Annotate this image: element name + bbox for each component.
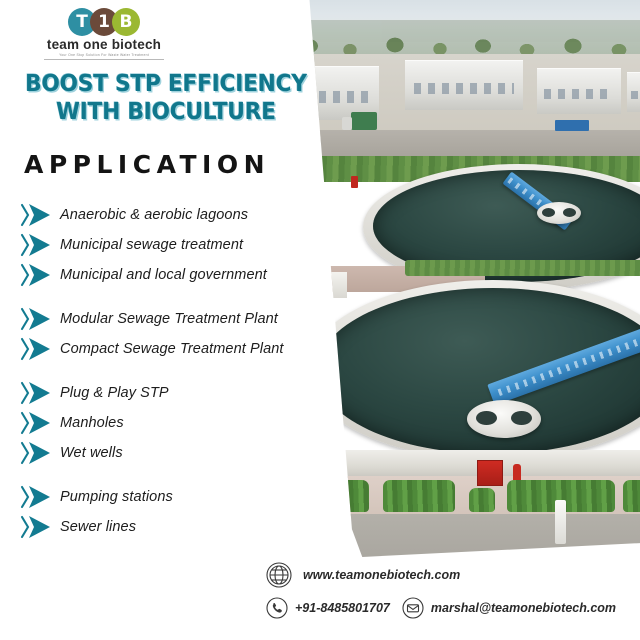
phone-text: +91-8485801707 bbox=[295, 601, 390, 615]
red-control-cabinet bbox=[477, 460, 503, 486]
perimeter-road bbox=[295, 514, 640, 557]
application-label: Modular Sewage Treatment Plant bbox=[60, 311, 278, 327]
arrow-bullet-icon bbox=[20, 202, 60, 228]
plant-building bbox=[405, 60, 523, 110]
application-label: Municipal and local government bbox=[60, 267, 267, 283]
application-item: Compact Sewage Treatment Plant bbox=[20, 334, 340, 364]
application-item: Plug & Play STP bbox=[20, 378, 340, 408]
shrub bbox=[469, 488, 495, 512]
envelope-icon bbox=[402, 597, 424, 619]
logo-letter-b: B bbox=[112, 8, 140, 36]
headline: BOOST STP EFFICIENCY WITH BIOCULTURE bbox=[25, 70, 307, 126]
arrow-bullet-icon bbox=[20, 484, 60, 510]
contact-footer: www.teamonebiotech.com +91-8485801707 bbox=[266, 562, 640, 619]
application-label: Manholes bbox=[60, 415, 124, 431]
arrow-bullet-icon bbox=[20, 380, 60, 406]
application-label: Plug & Play STP bbox=[60, 385, 169, 401]
road-post bbox=[555, 500, 566, 544]
poster-canvas: T 1 B team one biotech Your One Stop Sol… bbox=[0, 0, 640, 640]
application-item: Municipal sewage treatment bbox=[20, 230, 340, 260]
headline-line-2: WITH BIOCULTURE bbox=[25, 98, 307, 126]
arrow-bullet-icon bbox=[20, 262, 60, 288]
shrub bbox=[383, 480, 455, 512]
application-label: Compact Sewage Treatment Plant bbox=[60, 341, 284, 357]
logo-monogram: T 1 B bbox=[44, 8, 164, 36]
tank-wall bbox=[295, 450, 640, 478]
blue-equipment bbox=[555, 120, 589, 131]
arrow-bullet-icon bbox=[20, 306, 60, 332]
plant-building bbox=[537, 68, 621, 114]
contact-row-website: www.teamonebiotech.com bbox=[266, 562, 640, 588]
company-logo: T 1 B team one biotech Your One Stop Sol… bbox=[44, 8, 164, 60]
clarifier-hub-lower bbox=[467, 400, 541, 438]
curb-grass bbox=[405, 260, 640, 276]
application-item: Modular Sewage Treatment Plant bbox=[20, 304, 340, 334]
arrow-bullet-icon bbox=[20, 232, 60, 258]
application-label: Pumping stations bbox=[60, 489, 173, 505]
application-item: Sewer lines bbox=[20, 512, 340, 542]
arrow-bullet-icon bbox=[20, 410, 60, 436]
contact-email[interactable]: marshal@teamonebiotech.com bbox=[402, 597, 616, 619]
application-item: Anaerobic & aerobic lagoons bbox=[20, 200, 340, 230]
application-item: Pumping stations bbox=[20, 482, 340, 512]
logo-tagline: Your One Stop Solution For Waste Water T… bbox=[44, 53, 164, 60]
phone-icon bbox=[266, 597, 288, 619]
application-list: Anaerobic & aerobic lagoonsMunicipal sew… bbox=[20, 200, 340, 542]
red-marker bbox=[351, 176, 358, 188]
contact-website[interactable]: www.teamonebiotech.com bbox=[266, 562, 460, 588]
email-text: marshal@teamonebiotech.com bbox=[431, 601, 616, 615]
application-label: Wet wells bbox=[60, 445, 123, 461]
globe-icon bbox=[266, 562, 292, 588]
service-truck bbox=[351, 112, 377, 130]
arrow-bullet-icon bbox=[20, 514, 60, 540]
clarifier-hub-upper bbox=[537, 202, 581, 224]
arrow-bullet-icon bbox=[20, 440, 60, 466]
photo-scene bbox=[295, 0, 640, 557]
website-text: www.teamonebiotech.com bbox=[303, 568, 460, 582]
plant-building bbox=[627, 72, 640, 112]
shrub bbox=[623, 480, 640, 512]
contact-phone[interactable]: +91-8485801707 bbox=[266, 597, 390, 619]
application-item: Manholes bbox=[20, 408, 340, 438]
application-item: Wet wells bbox=[20, 438, 340, 468]
application-label: Sewer lines bbox=[60, 519, 136, 535]
application-label: Anaerobic & aerobic lagoons bbox=[60, 207, 248, 223]
headline-line-1: BOOST STP EFFICIENCY bbox=[25, 70, 307, 98]
arrow-bullet-icon bbox=[20, 336, 60, 362]
contact-row-phone-email: +91-8485801707 marshal@teamonebiotech.co… bbox=[266, 597, 640, 619]
logo-company-name: team one biotech bbox=[44, 37, 164, 52]
section-title: APPLICATION bbox=[24, 150, 270, 179]
application-label: Municipal sewage treatment bbox=[60, 237, 243, 253]
access-road bbox=[295, 130, 640, 156]
treatment-plant-photo bbox=[295, 0, 640, 557]
application-item: Municipal and local government bbox=[20, 260, 340, 290]
